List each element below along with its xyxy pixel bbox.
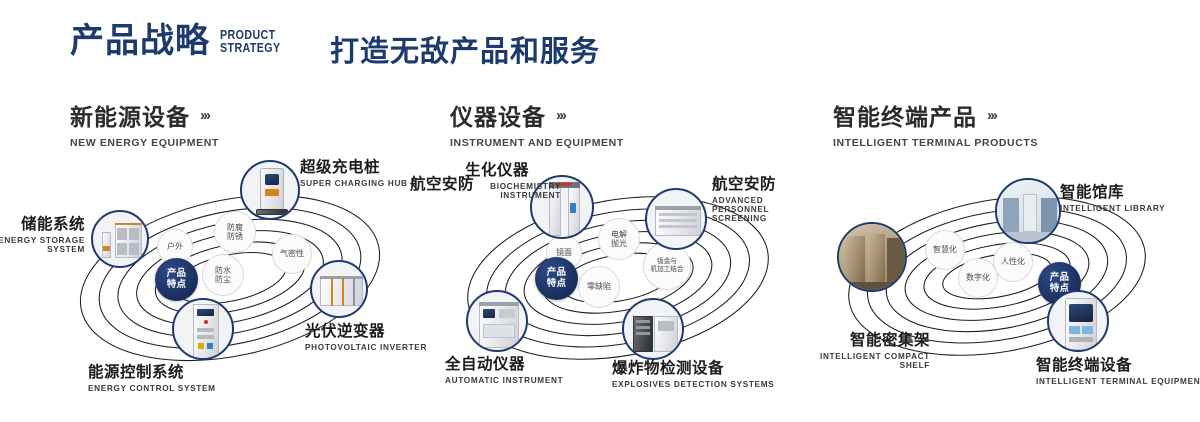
keyword-bubble: 电解 抛光 [598,218,640,260]
label-intelligent-compact-shelf: 智能密集架 INTELLIGENT COMPACT SHELF [805,328,930,370]
section-title-cn: 仪器设备 [450,98,546,132]
infographic-page: 产品战略 PRODUCT STRATEGY 打造无敌产品和服务 新能源设备 ››… [0,0,1200,422]
cluster-instrument: 镜面 电解 抛光 钣金与 机加工结合 零缺陷 产品 特点 [440,150,840,410]
keyword-bubble: 钣金与 机加工结合 [643,242,691,290]
charging-hub-photo [242,162,298,218]
section-title-cn: 智能终端产品 [833,98,977,132]
node-automatic-instrument[interactable] [466,290,528,352]
cluster-new-energy: 户外 防腐 防锈 气密性 防水 防尘 产品 特点 [55,150,455,410]
label-biochemistry-instrument: 生化仪器 BIOCHEMISTRY INSTRUMENT [465,158,561,200]
label-intelligent-library: 智能馆库 INTELLIGENT LIBRARY [1060,180,1165,213]
cluster-intelligent-terminal: 智慧化 人性化 数字化 产品 特点 [815,150,1200,410]
node-intelligent-terminal-equipment[interactable] [1047,290,1109,352]
label-automatic-instrument: 全自动仪器 AUTOMATIC INSTRUMENT [445,352,563,385]
section-header-intelligent-terminal: 智能终端产品 ››› INTELLIGENT TERMINAL PRODUCTS [833,98,1038,149]
label-photovoltaic-inverter: 光伏逆变器 PHOTOVOLTAIC INVERTER [305,319,427,352]
section-title-cn: 新能源设备 [70,98,190,132]
terminal-kiosk-photo [1049,292,1107,350]
explosives-detection-photo [624,300,682,358]
label-explosives-detection-systems: 爆炸物检测设备 EXPLOSIVES DETECTION SYSTEMS [612,356,774,389]
keyword-bubble: 防水 防尘 [202,254,244,296]
node-intelligent-library[interactable] [995,178,1061,244]
keyword-bubble: 智慧化 [925,230,965,270]
node-photovoltaic-inverter[interactable] [310,260,368,318]
title-cn: 产品战略 [70,24,210,58]
title-en-line2: STRATEGY [220,41,281,54]
label-energy-storage-system: 储能系统 ENERGY STORAGE SYSTEM [0,212,85,254]
energy-storage-photo [93,212,147,266]
node-intelligent-compact-shelf[interactable] [837,222,907,292]
node-energy-control-system[interactable] [172,298,234,360]
label-intelligent-terminal-equipment: 智能终端设备 INTELLIGENT TERMINAL EQUIPMENT [1036,353,1200,386]
keyword-bubble: 人性化 [993,242,1033,282]
label-energy-control-system: 能源控制系统 ENERGY CONTROL SYSTEM [88,360,216,393]
pv-inverter-photo [312,262,366,316]
node-advanced-personnel-screening[interactable] [645,188,707,250]
chevron-right-icon: ››› [200,107,209,124]
section-title-en: INTELLIGENT TERMINAL PRODUCTS [833,137,1038,149]
chevron-right-icon: ››› [987,107,996,124]
node-energy-storage-system[interactable] [91,210,149,268]
node-super-charging-hub[interactable] [240,160,300,220]
section-title-en: NEW ENERGY EQUIPMENT [70,137,219,149]
title-en: PRODUCT STRATEGY [220,28,281,54]
intelligent-library-photo [997,180,1059,242]
screening-machine-photo [647,190,705,248]
keyword-bubble: 气密性 [272,234,312,274]
label-super-charging-hub: 超级充电桩 SUPER CHARGING HUB [300,155,408,188]
core-bubble-product-features: 产品 特点 [155,258,198,301]
keyword-bubble: 零缺陷 [578,266,620,308]
page-title: 产品战略 PRODUCT STRATEGY [70,24,294,58]
section-title-en: INSTRUMENT AND EQUIPMENT [450,137,624,149]
energy-control-photo [174,300,232,358]
page-subtitle: 打造无敌产品和服务 [330,28,600,70]
section-header-new-energy: 新能源设备 ››› NEW ENERGY EQUIPMENT [70,98,219,149]
automatic-instrument-photo [468,292,526,350]
section-header-instrument: 仪器设备 ››› INSTRUMENT AND EQUIPMENT [450,98,624,149]
label-advanced-personnel-screening: 航空安防 ADVANCED PERSONNEL SCREENING [712,172,817,223]
core-bubble-product-features: 产品 特点 [535,257,578,300]
compact-shelf-photo [839,224,905,290]
keyword-bubble: 数字化 [958,258,998,298]
chevron-right-icon: ››› [556,107,565,124]
node-explosives-detection-systems[interactable] [622,298,684,360]
